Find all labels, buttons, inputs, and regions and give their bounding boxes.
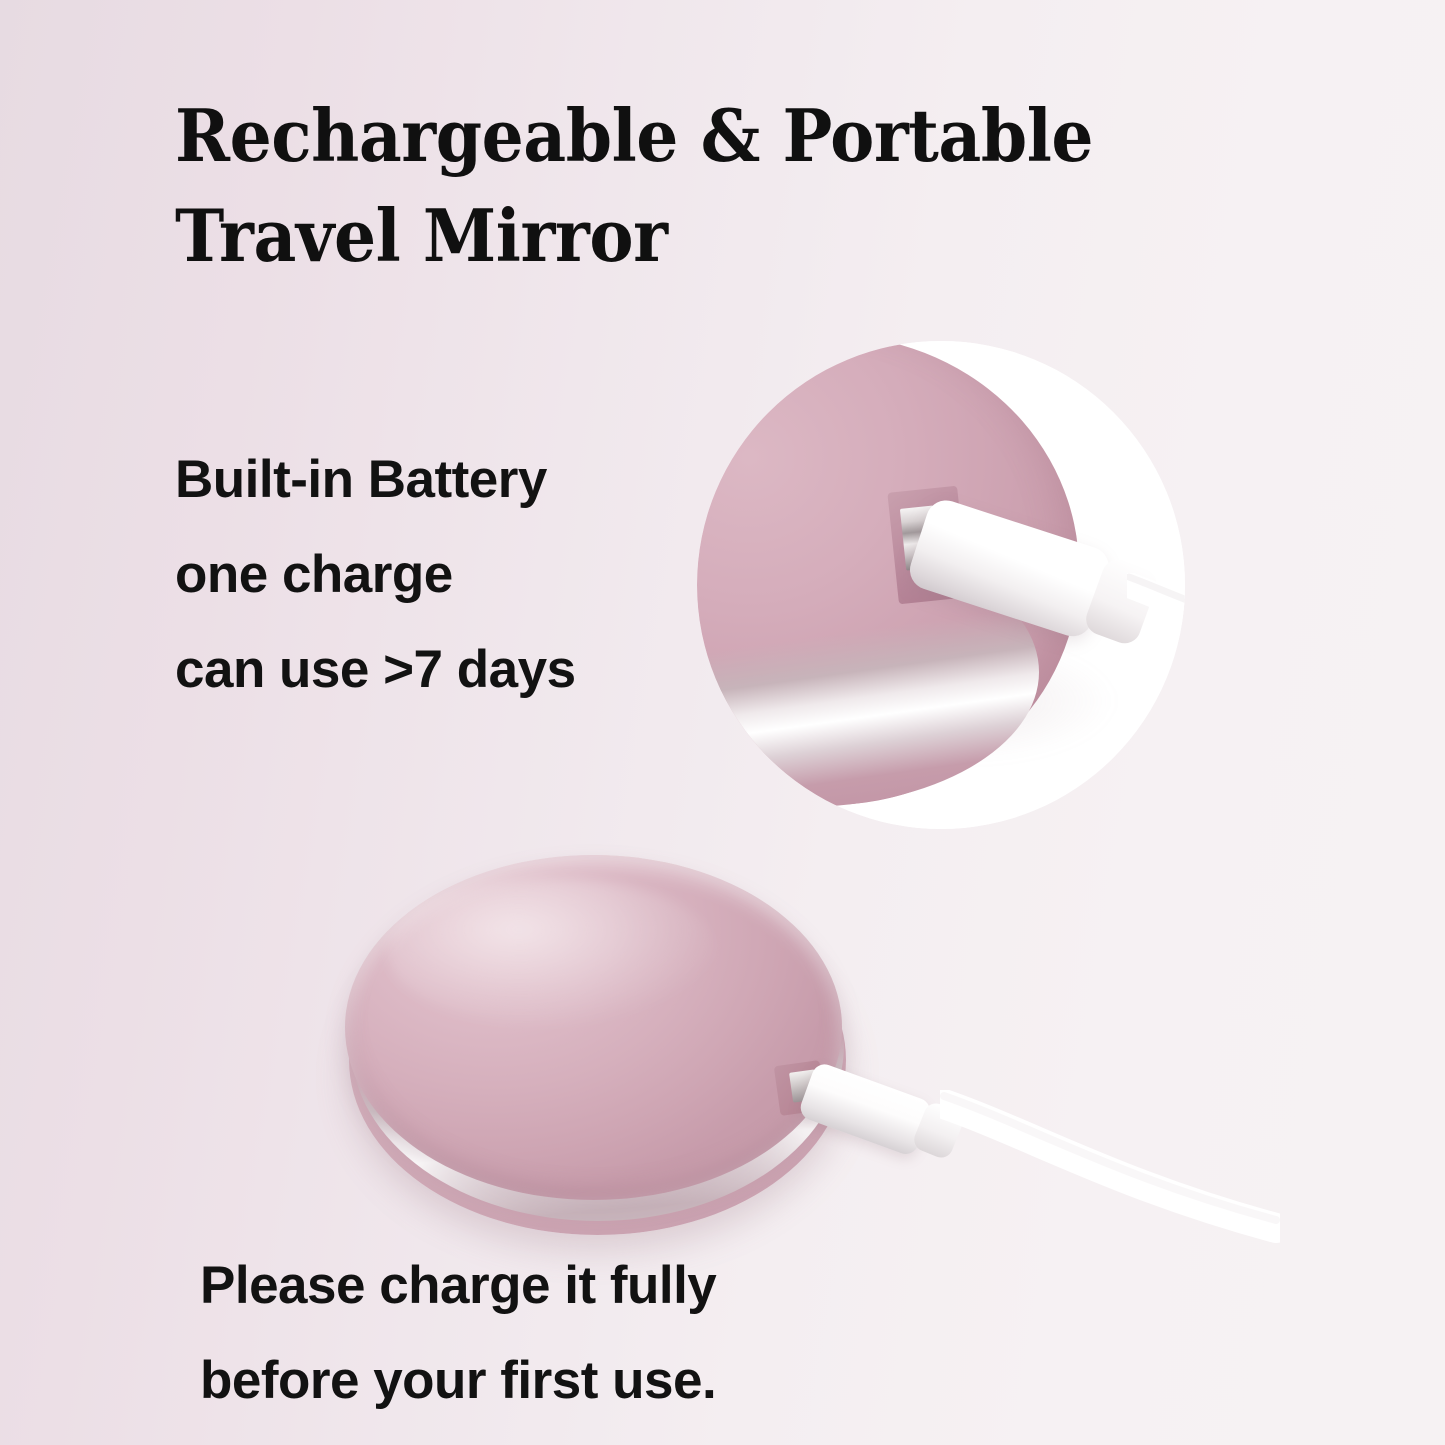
mirror-lid-sheen — [387, 877, 717, 1027]
mirror-lid — [345, 855, 842, 1200]
battery-description: Built-in Battery one charge can use >7 d… — [175, 432, 775, 717]
inset-cable-cord — [1127, 573, 1185, 693]
product-main-photo — [345, 855, 850, 1245]
first-use-instruction: Please charge it fully before your first… — [200, 1238, 960, 1428]
cable-cord — [940, 1090, 1280, 1270]
page-title: Rechargeable & Portable Travel Mirror — [175, 86, 1233, 286]
product-poster: Rechargeable & Portable Travel Mirror Bu… — [0, 0, 1445, 1445]
usb-plug — [797, 1061, 933, 1158]
